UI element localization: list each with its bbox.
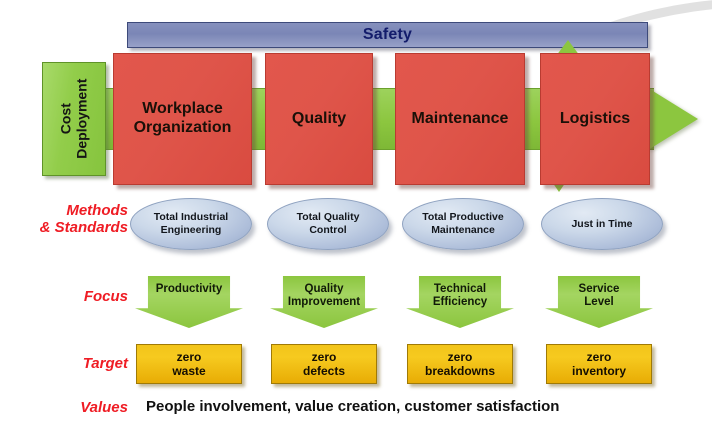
focus-quality-improvement[interactable]: Quality Improvement	[270, 276, 378, 328]
method-line1: Total Quality	[297, 211, 360, 224]
safety-label: Safety	[363, 26, 412, 44]
target-line2: breakdowns	[425, 364, 495, 378]
method-label: Just in Time	[571, 218, 632, 231]
focus-line2: Level	[579, 296, 620, 309]
method-total-quality-control[interactable]: Total Quality Control	[267, 198, 389, 250]
method-line1: Total Industrial	[154, 211, 228, 224]
target-zero-defects[interactable]: zero defects	[271, 344, 377, 384]
direction-arrow-icon	[648, 88, 698, 150]
target-label: zero inventory	[572, 350, 626, 379]
pillar-label: Workplace Organization	[134, 100, 232, 138]
row-label-line2: & Standards	[0, 219, 128, 236]
target-zero-waste[interactable]: zero waste	[136, 344, 242, 384]
cost-deployment-box[interactable]: Cost Deployment	[42, 62, 106, 176]
cost-deployment-line1: Cost	[58, 79, 74, 159]
pillar-label: Logistics	[560, 110, 630, 129]
pillar-workplace-organization[interactable]: Workplace Organization	[113, 53, 252, 185]
method-total-industrial-engineering[interactable]: Total Industrial Engineering	[130, 198, 252, 250]
method-line2: Maintenance	[422, 224, 503, 237]
pillar-maintenance[interactable]: Maintenance	[395, 53, 525, 185]
cost-deployment-label: Cost Deployment	[58, 79, 89, 159]
row-label-line1: Values	[0, 399, 128, 416]
focus-line2: Efficiency	[433, 296, 487, 309]
row-label-focus: Focus	[0, 288, 128, 305]
row-label-line1: Focus	[0, 288, 128, 305]
pillar-label: Quality	[292, 110, 346, 129]
row-label-values: Values	[0, 399, 128, 416]
target-line1: zero	[172, 350, 205, 364]
method-label: Total Industrial Engineering	[154, 211, 228, 236]
focus-label: Technical Efficiency	[433, 283, 487, 310]
focus-label: Quality Improvement	[288, 283, 360, 310]
target-line2: waste	[172, 364, 205, 378]
method-line2: Engineering	[154, 224, 228, 237]
diagram-canvas: Safety Cost Deployment Workplace Organiz…	[0, 0, 712, 427]
pillar-line2: Organization	[134, 119, 232, 138]
pillar-label: Maintenance	[412, 110, 509, 129]
method-line2: Control	[297, 224, 360, 237]
row-label-target: Target	[0, 355, 128, 372]
focus-line1: Service	[579, 283, 620, 296]
cost-deployment-line2: Deployment	[74, 79, 90, 159]
focus-service-level[interactable]: Service Level	[545, 276, 653, 328]
target-line1: zero	[303, 350, 345, 364]
method-just-in-time[interactable]: Just in Time	[541, 198, 663, 250]
values-statement: People involvement, value creation, cust…	[146, 398, 559, 415]
pillar-quality[interactable]: Quality	[265, 53, 373, 185]
focus-line1: Technical	[433, 283, 487, 296]
method-line1: Total Productive	[422, 211, 503, 224]
focus-line1: Quality	[288, 283, 360, 296]
pillar-line1: Workplace	[134, 100, 232, 119]
focus-technical-efficiency[interactable]: Technical Efficiency	[406, 276, 514, 328]
target-line2: inventory	[572, 364, 626, 378]
target-zero-breakdowns[interactable]: zero breakdowns	[407, 344, 513, 384]
target-label: zero breakdowns	[425, 350, 495, 379]
focus-line1: Productivity	[156, 283, 222, 296]
row-label-line1: Target	[0, 355, 128, 372]
target-line1: zero	[425, 350, 495, 364]
pillar-logistics[interactable]: Logistics	[540, 53, 650, 185]
target-line2: defects	[303, 364, 345, 378]
focus-label: Productivity	[156, 283, 222, 296]
target-label: zero waste	[172, 350, 205, 379]
focus-label: Service Level	[579, 283, 620, 310]
target-zero-inventory[interactable]: zero inventory	[546, 344, 652, 384]
row-label-line1: Methods	[0, 202, 128, 219]
method-line1: Just in Time	[571, 218, 632, 231]
target-label: zero defects	[303, 350, 345, 379]
method-label: Total Productive Maintenance	[422, 211, 503, 236]
method-total-productive-maintenance[interactable]: Total Productive Maintenance	[402, 198, 524, 250]
method-label: Total Quality Control	[297, 211, 360, 236]
focus-productivity[interactable]: Productivity	[135, 276, 243, 328]
row-label-methods: Methods & Standards	[0, 202, 128, 237]
target-line1: zero	[572, 350, 626, 364]
focus-line2: Improvement	[288, 296, 360, 309]
